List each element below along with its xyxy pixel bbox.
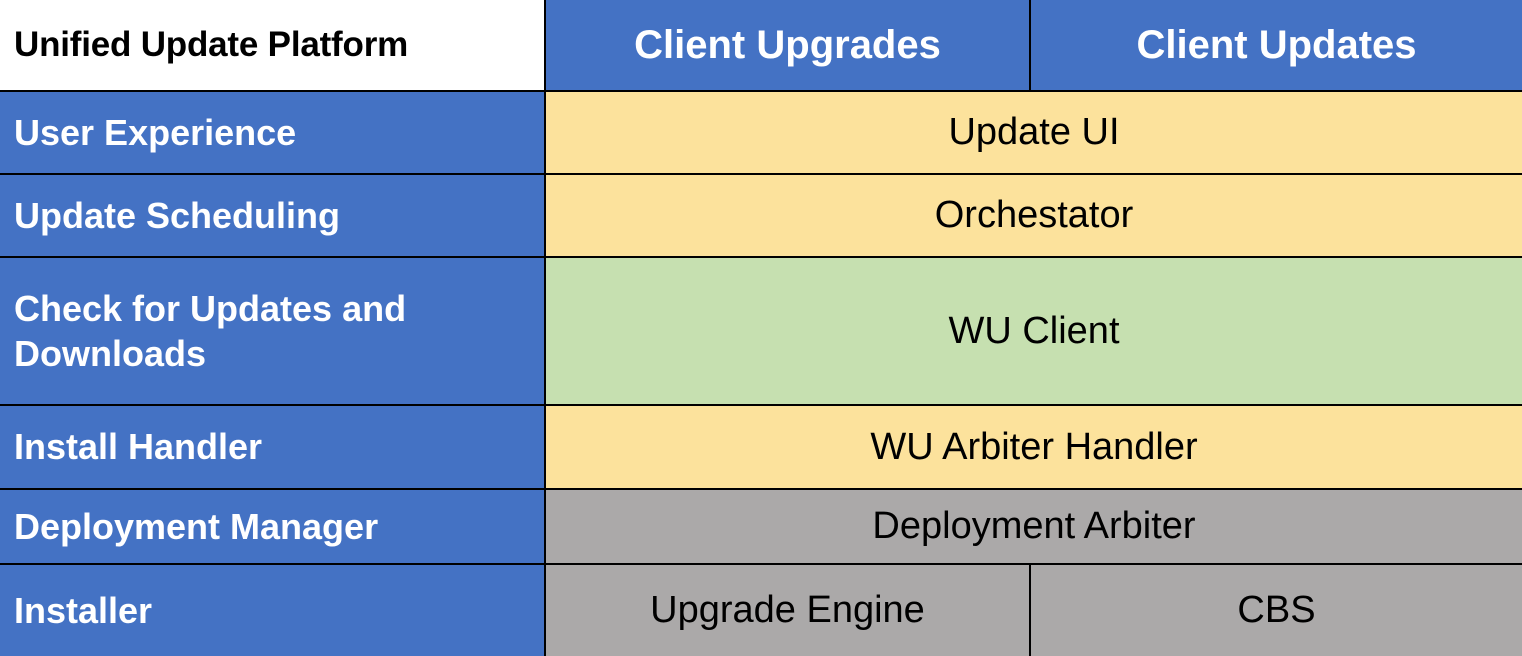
row-label-user-experience: User Experience — [0, 91, 545, 174]
row-label-installer: Installer — [0, 564, 545, 656]
table-row: Deployment Manager Deployment Arbiter — [0, 489, 1522, 564]
component-cell-wu-arbiter-handler: WU Arbiter Handler — [545, 405, 1522, 489]
table-row: Update Scheduling Orchestator — [0, 174, 1522, 257]
row-label-check-for-updates-and-downloads: Check for Updates and Downloads — [0, 257, 545, 405]
component-cell-deployment-arbiter: Deployment Arbiter — [545, 489, 1522, 564]
component-cell-wu-client: WU Client — [545, 257, 1522, 405]
component-cell-update-ui: Update UI — [545, 91, 1522, 174]
component-cell-orchestator: Orchestator — [545, 174, 1522, 257]
unified-update-platform-matrix: Unified Update Platform Client Upgrades … — [0, 0, 1522, 656]
table-row: Install Handler WU Arbiter Handler — [0, 405, 1522, 489]
table-row: Check for Updates and Downloads WU Clien… — [0, 257, 1522, 405]
table-row: Installer Upgrade Engine CBS — [0, 564, 1522, 656]
table-row: User Experience Update UI — [0, 91, 1522, 174]
row-label-update-scheduling: Update Scheduling — [0, 174, 545, 257]
table-header-row: Unified Update Platform Client Upgrades … — [0, 0, 1522, 91]
column-header-client-updates: Client Updates — [1030, 0, 1522, 91]
component-cell-cbs: CBS — [1030, 564, 1522, 656]
page-title: Unified Update Platform — [0, 0, 545, 91]
row-label-deployment-manager: Deployment Manager — [0, 489, 545, 564]
row-label-install-handler: Install Handler — [0, 405, 545, 489]
column-header-client-upgrades: Client Upgrades — [545, 0, 1030, 91]
component-cell-upgrade-engine: Upgrade Engine — [545, 564, 1030, 656]
